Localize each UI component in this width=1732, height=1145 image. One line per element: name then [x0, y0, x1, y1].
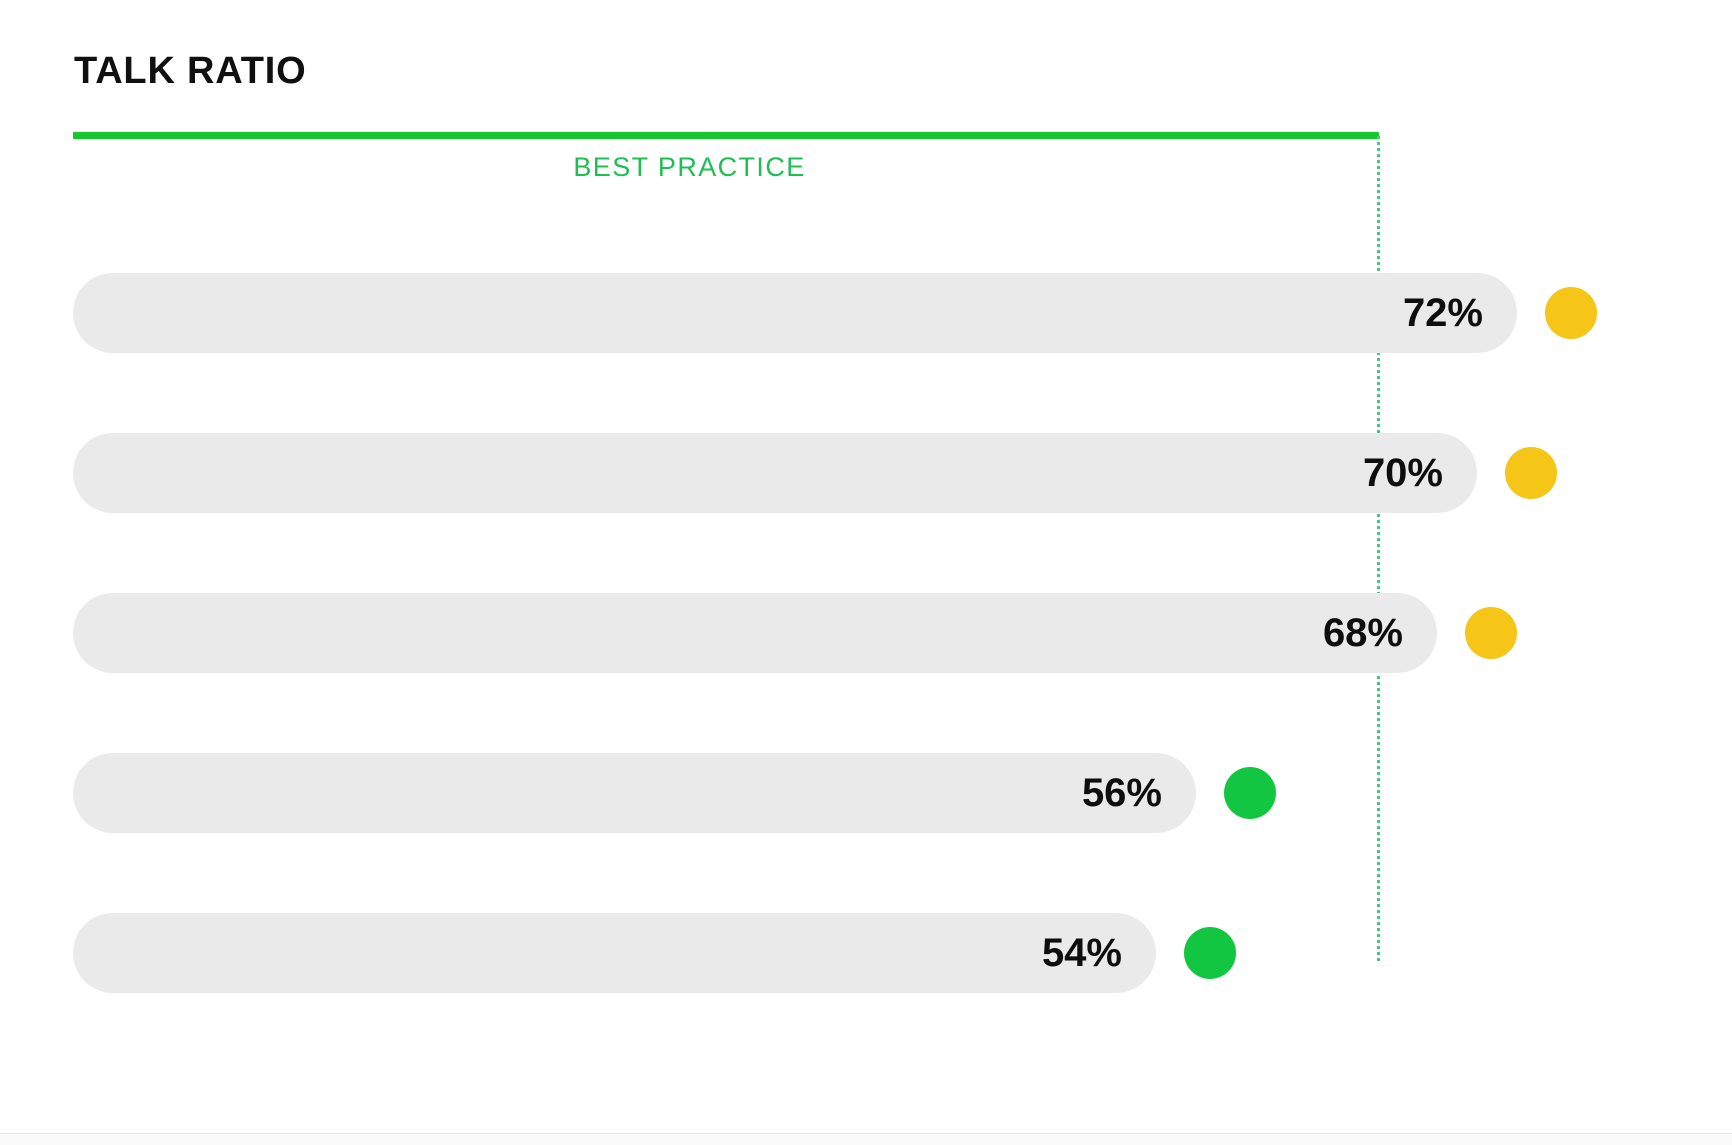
status-dot-icon: [1184, 927, 1236, 979]
status-dot-icon: [1505, 447, 1557, 499]
bar-row[interactable]: 54%: [73, 913, 1244, 993]
footer-strip: [0, 1134, 1732, 1145]
bar-row[interactable]: 70%: [73, 433, 1565, 513]
bar-track: 54%: [73, 913, 1156, 993]
bar-rows: 72%70%68%56%54%: [0, 0, 1732, 1145]
bar-value-label: 70%: [1363, 453, 1443, 493]
bar-value-label: 68%: [1323, 613, 1403, 653]
bar-row[interactable]: 68%: [73, 593, 1525, 673]
bar-track: 70%: [73, 433, 1477, 513]
bar-row[interactable]: 72%: [73, 273, 1605, 353]
bar-track: 68%: [73, 593, 1437, 673]
status-dot-icon: [1545, 287, 1597, 339]
status-dot-icon: [1465, 607, 1517, 659]
bar-value-label: 56%: [1082, 773, 1162, 813]
bar-track: 56%: [73, 753, 1196, 833]
bar-row[interactable]: 56%: [73, 753, 1284, 833]
talk-ratio-panel: TALK RATIO BEST PRACTICE 72%70%68%56%54%: [0, 0, 1732, 1145]
bar-value-label: 72%: [1403, 293, 1483, 333]
bar-track: 72%: [73, 273, 1517, 353]
status-dot-icon: [1224, 767, 1276, 819]
bar-value-label: 54%: [1042, 933, 1122, 973]
